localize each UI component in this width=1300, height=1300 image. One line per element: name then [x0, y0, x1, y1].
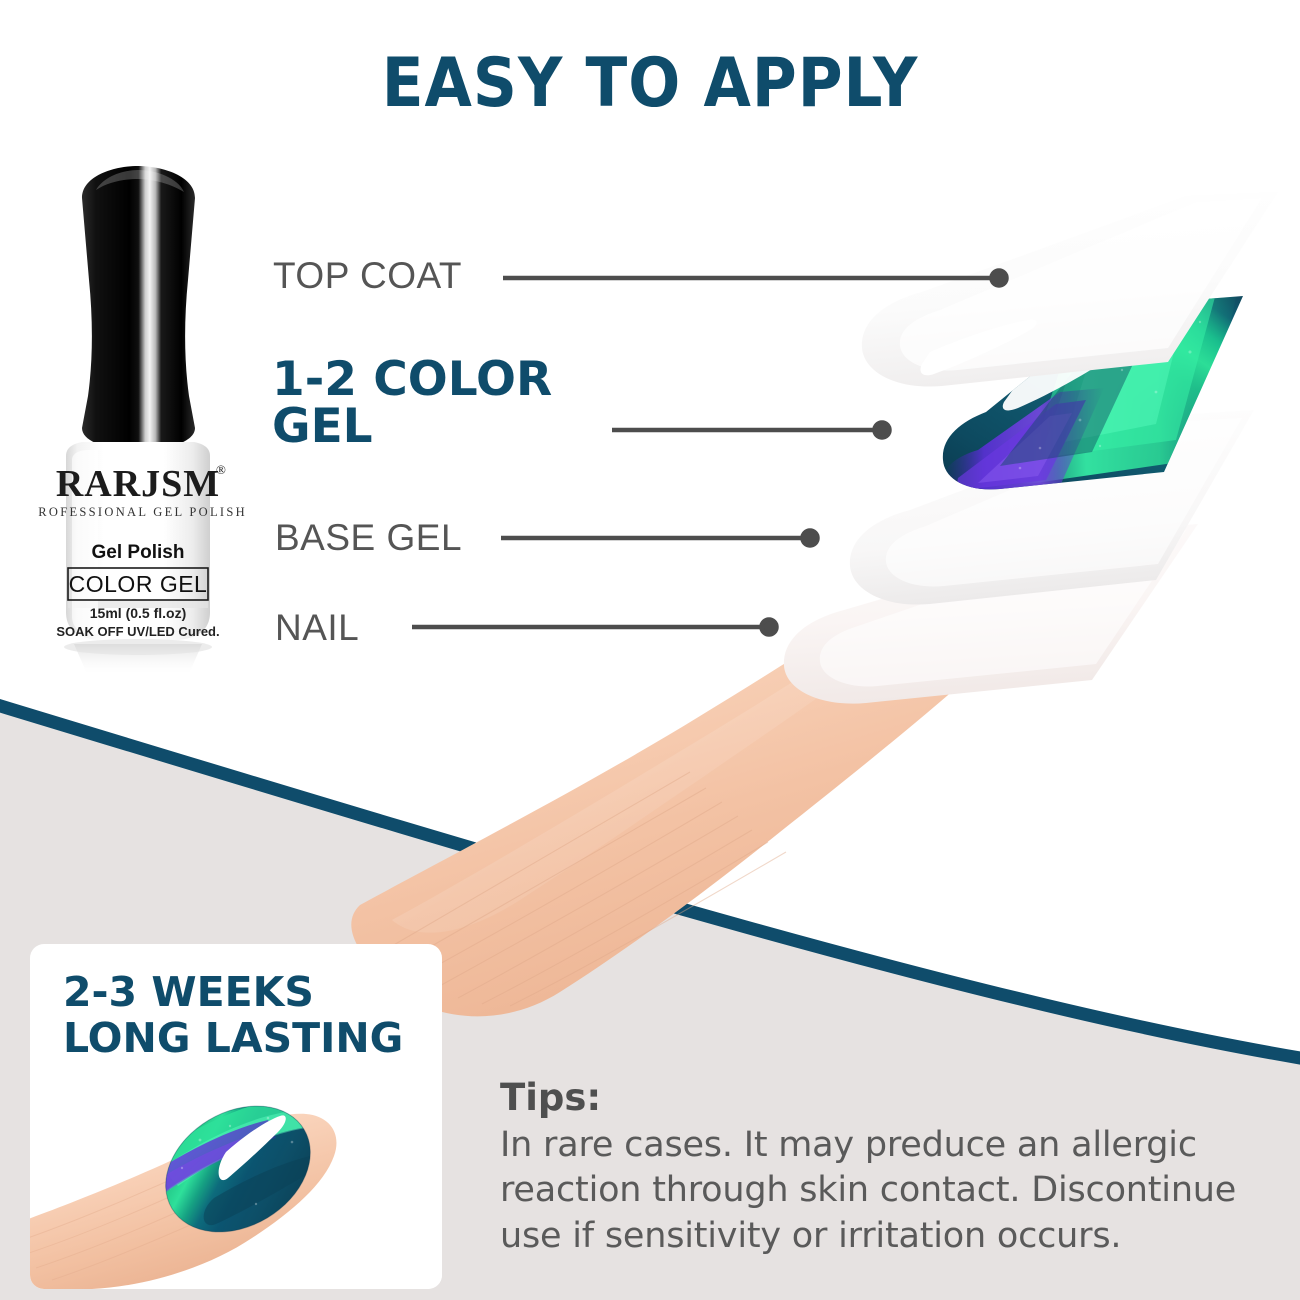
tips-body: In rare cases. It may preduce an allergi…: [500, 1123, 1270, 1260]
layer-label-top-coat: TOP COAT: [273, 256, 462, 295]
layer-label-base-gel: BASE GEL: [275, 518, 462, 557]
layer-top-coat: [862, 192, 1278, 387]
tips-heading: Tips:: [500, 1078, 1270, 1119]
long-lasting-headline: 2-3 WEEKS LONG LASTING: [63, 970, 403, 1061]
infographic-stage: EASY TO APPLY: [0, 0, 1300, 1300]
layer-label-color-gel: 1-2 COLOR GEL: [272, 356, 552, 450]
manicured-nail-photo: [30, 1072, 442, 1289]
layer-label-color-gel-line1: 1-2 COLOR: [272, 356, 552, 403]
layer-label-nail: NAIL: [275, 608, 359, 647]
tips-section: Tips: In rare cases. It may preduce an a…: [500, 1078, 1270, 1259]
long-lasting-card: 2-3 WEEKS LONG LASTING: [30, 944, 442, 1289]
layer-label-color-gel-line2: GEL: [272, 403, 552, 450]
